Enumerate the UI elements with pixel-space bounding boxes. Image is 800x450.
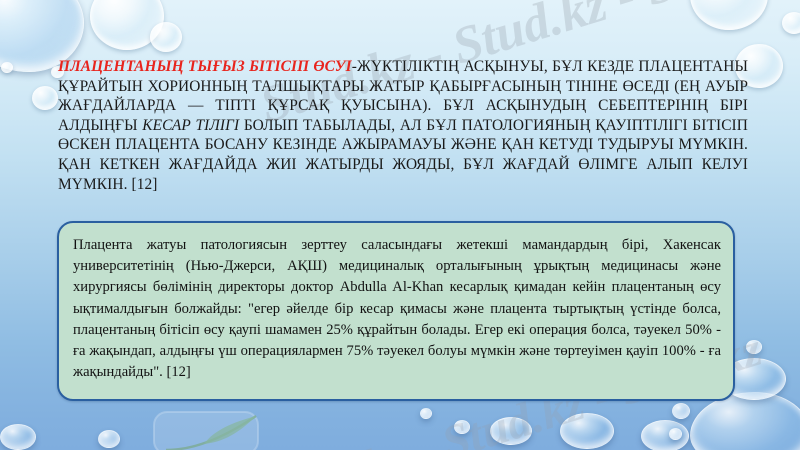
water-droplet-icon: [420, 408, 432, 419]
water-droplet-icon: [454, 420, 470, 434]
intro-heading: ПЛАЦЕНТАНЫҢ ТЫҒЫЗ БІТІСІП ӨСУІ: [58, 58, 352, 75]
water-droplet-icon: [90, 0, 164, 50]
intro-italic-term: КЕСАР ТІЛІГІ: [142, 117, 239, 134]
intro-paragraph: ПЛАЦЕНТАНЫҢ ТЫҒЫЗ БІТІСІП ӨСУІ-ЖҮКТІЛІКТ…: [58, 57, 748, 194]
water-droplet-icon: [746, 340, 762, 354]
water-droplet-icon: [690, 0, 768, 30]
water-droplet-icon: [1, 62, 13, 73]
water-droplet-icon: [669, 428, 682, 440]
quote-callout-text: Плацента жатуы патологиясын зерттеу сала…: [73, 235, 721, 383]
water-droplet-icon: [150, 22, 182, 52]
water-droplet-icon: [98, 430, 120, 448]
presentation-slide: Stud.kz - Stud.kz - Stud.kz Stud.kz - St…: [0, 0, 800, 450]
water-droplet-icon: [782, 12, 800, 34]
water-droplet-icon: [490, 417, 532, 445]
water-droplet-icon: [0, 424, 36, 450]
stud-kz-leaf-logo: [152, 410, 272, 450]
water-droplet-icon: [32, 86, 58, 110]
water-droplet-icon: [641, 420, 689, 450]
water-droplet-icon: [560, 413, 614, 449]
quote-callout-box: Плацента жатуы патологиясын зерттеу сала…: [57, 221, 735, 401]
water-droplet-icon: [672, 403, 690, 419]
